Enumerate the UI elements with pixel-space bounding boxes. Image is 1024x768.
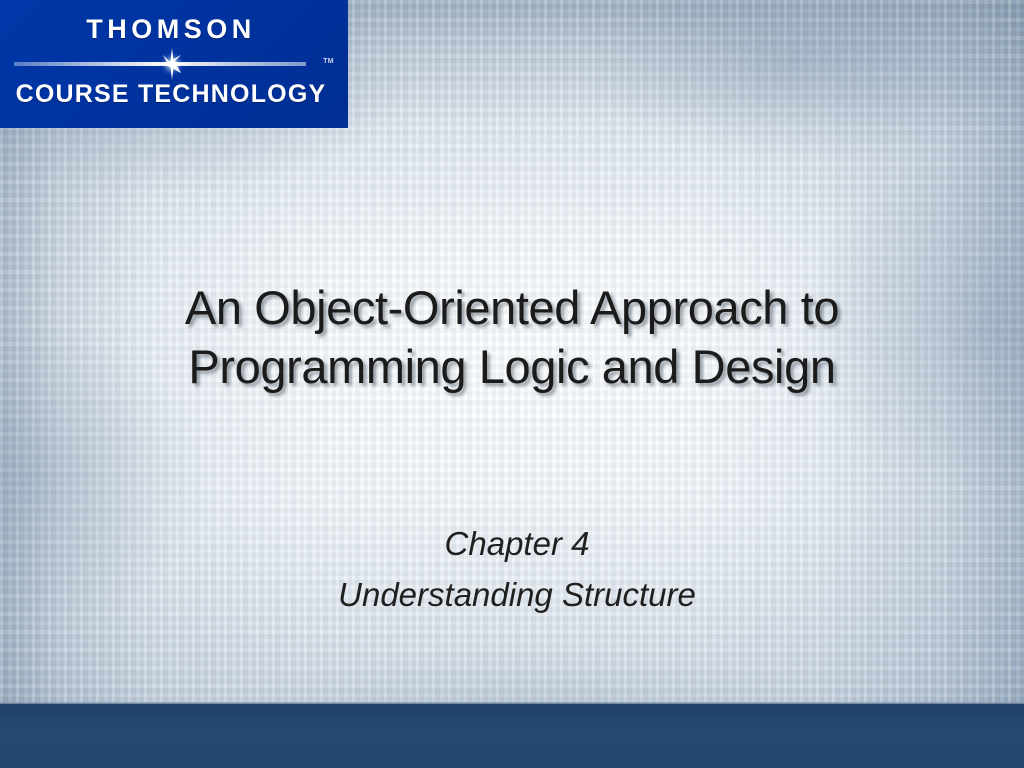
slide-subtitle-chapter: Chapter 4 [62,518,972,569]
slide-title: An Object-Oriented Approach to Programmi… [62,278,962,396]
thomson-course-technology-logo: THOMSON TM [0,0,348,128]
star-burst-icon [156,48,188,80]
slide-subtitle-topic: Understanding Structure [62,569,972,620]
slide-title-line-1: An Object-Oriented Approach to [62,278,962,337]
slide-subtitle: Chapter 4 Understanding Structure [62,518,972,620]
presentation-slide: THOMSON TM [0,0,1024,768]
logo-trademark-symbol: TM [323,58,334,65]
logo-brand-top-text: THOMSON [0,14,342,44]
slide-title-line-2: Programming Logic and Design [62,337,962,396]
footer-band [0,704,1024,768]
logo-brand-bottom-text: COURSE TECHNOLOGY [0,80,342,108]
logo-rule-group: TM [14,56,334,72]
